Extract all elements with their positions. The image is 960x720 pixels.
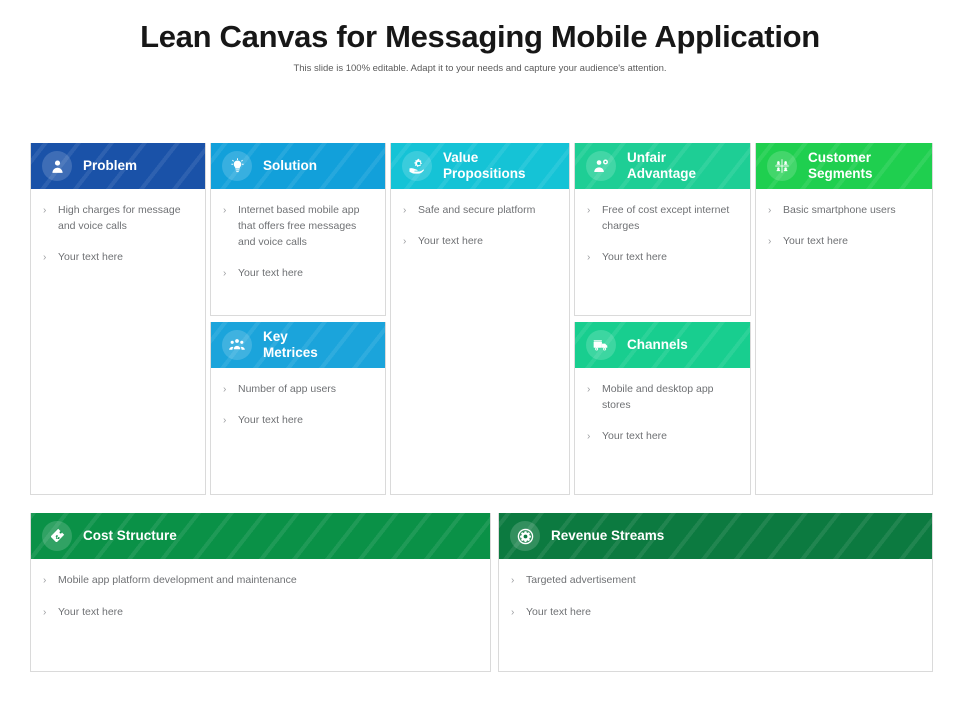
- header-unfair-advantage: Unfair Advantage: [575, 143, 750, 189]
- list-item: › Mobile app platform development and ma…: [43, 573, 480, 589]
- header-revenue-streams: Revenue Streams: [499, 513, 932, 559]
- column-solution: Solution › Internet based mobile app tha…: [210, 143, 386, 495]
- bullets-cost-structure: › Mobile app platform development and ma…: [31, 559, 490, 671]
- list-item-text: Your text here: [58, 250, 195, 266]
- card-channels[interactable]: Channels › Mobile and desktop app stores…: [574, 322, 751, 495]
- list-item: › Your text here: [43, 250, 195, 266]
- chevron-right-icon: ›: [223, 266, 238, 282]
- list-item: › Your text here: [43, 605, 480, 621]
- chevron-right-icon: ›: [223, 203, 238, 219]
- card-solution[interactable]: Solution › Internet based mobile app tha…: [210, 143, 386, 316]
- chevron-right-icon: ›: [223, 413, 238, 429]
- segmentation-grid-icon: [767, 151, 797, 181]
- header-label-channels: Channels: [627, 337, 688, 353]
- list-item-text: Your text here: [238, 266, 375, 282]
- list-item-text: Your text here: [602, 250, 740, 266]
- bullets-problem: › High charges for message and voice cal…: [31, 189, 205, 494]
- chevron-right-icon: ›: [43, 250, 58, 266]
- bullets-solution: › Internet based mobile app that offers …: [211, 189, 385, 315]
- list-item: › Your text here: [768, 234, 922, 250]
- chevron-right-icon: ›: [43, 605, 58, 621]
- slide-header: Lean Canvas for Messaging Mobile Applica…: [0, 0, 960, 74]
- list-item: › Your text here: [223, 413, 375, 429]
- chevron-right-icon: ›: [587, 429, 602, 445]
- bullets-channels: › Mobile and desktop app stores › Your t…: [575, 368, 750, 494]
- card-customer-segments[interactable]: Customer Segments › Basic smartphone use…: [755, 143, 933, 495]
- header-label-problem: Problem: [83, 158, 137, 174]
- column-unfair-advantage: Unfair Advantage › Free of cost except i…: [574, 143, 751, 495]
- list-item: › Internet based mobile app that offers …: [223, 203, 375, 251]
- list-item-text: Internet based mobile app that offers fr…: [238, 203, 375, 251]
- chevron-right-icon: ›: [587, 382, 602, 398]
- chevron-right-icon: ›: [403, 203, 418, 219]
- list-item-text: Free of cost except internet charges: [602, 203, 740, 235]
- list-item-text: Your text here: [526, 605, 922, 621]
- list-item: › Your text here: [587, 429, 740, 445]
- lean-canvas-grid: Problem › High charges for message and v…: [30, 143, 933, 495]
- chevron-right-icon: ›: [587, 203, 602, 219]
- list-item-text: Your text here: [783, 234, 922, 250]
- person-settings-icon: [586, 151, 616, 181]
- bottom-row: Cost Structure › Mobile app platform dev…: [30, 513, 933, 672]
- price-tag-dollar-icon: [42, 521, 72, 551]
- header-label-customer-segments: Customer Segments: [808, 150, 873, 182]
- list-item: › High charges for message and voice cal…: [43, 203, 195, 235]
- list-item: › Basic smartphone users: [768, 203, 922, 219]
- chevron-right-icon: ›: [768, 234, 783, 250]
- header-cost-structure: Cost Structure: [31, 513, 490, 559]
- header-problem: Problem: [31, 143, 205, 189]
- list-item: › Free of cost except internet charges: [587, 203, 740, 235]
- card-cost-structure[interactable]: Cost Structure › Mobile app platform dev…: [30, 513, 491, 672]
- card-problem[interactable]: Problem › High charges for message and v…: [30, 143, 206, 495]
- list-item-text: Your text here: [58, 605, 480, 621]
- header-label-solution: Solution: [263, 158, 317, 174]
- header-channels: Channels: [575, 322, 750, 368]
- person-icon: [42, 151, 72, 181]
- column-value-propositions: Value Propositions › Safe and secure pla…: [390, 143, 570, 495]
- page-title: Lean Canvas for Messaging Mobile Applica…: [0, 20, 960, 54]
- page-subtitle: This slide is 100% editable. Adapt it to…: [0, 63, 960, 74]
- column-customer-segments: Customer Segments › Basic smartphone use…: [755, 143, 933, 495]
- header-key-metrices: Key Metrices: [211, 322, 385, 368]
- bullets-unfair-advantage: › Free of cost except internet charges ›…: [575, 189, 750, 315]
- delivery-truck-icon: [586, 330, 616, 360]
- lightbulb-icon: [222, 151, 252, 181]
- header-value-propositions: Value Propositions: [391, 143, 569, 189]
- list-item-text: Basic smartphone users: [783, 203, 922, 219]
- list-item-text: High charges for message and voice calls: [58, 203, 195, 235]
- list-item-text: Your text here: [602, 429, 740, 445]
- list-item-text: Your text here: [238, 413, 375, 429]
- chevron-right-icon: ›: [403, 234, 418, 250]
- bullets-customer-segments: › Basic smartphone users › Your text her…: [756, 189, 932, 494]
- column-problem: Problem › High charges for message and v…: [30, 143, 206, 495]
- bullets-revenue-streams: › Targeted advertisement › Your text her…: [499, 559, 932, 671]
- list-item: › Your text here: [403, 234, 559, 250]
- list-item: › Your text here: [511, 605, 922, 621]
- people-group-icon: [222, 330, 252, 360]
- slide-canvas: Lean Canvas for Messaging Mobile Applica…: [0, 0, 960, 720]
- bullets-key-metrices: › Number of app users › Your text here: [211, 368, 385, 494]
- header-label-cost-structure: Cost Structure: [83, 528, 177, 544]
- header-solution: Solution: [211, 143, 385, 189]
- hand-gear-icon: [402, 151, 432, 181]
- header-customer-segments: Customer Segments: [756, 143, 932, 189]
- list-item-text: Your text here: [418, 234, 559, 250]
- header-label-value-propositions: Value Propositions: [443, 150, 526, 182]
- list-item-text: Safe and secure platform: [418, 203, 559, 219]
- card-value-propositions[interactable]: Value Propositions › Safe and secure pla…: [390, 143, 570, 495]
- header-label-revenue-streams: Revenue Streams: [551, 528, 664, 544]
- bullets-value-propositions: › Safe and secure platform › Your text h…: [391, 189, 569, 494]
- list-item-text: Mobile app platform development and main…: [58, 573, 480, 589]
- list-item: › Number of app users: [223, 382, 375, 398]
- chevron-right-icon: ›: [43, 573, 58, 589]
- list-item: › Targeted advertisement: [511, 573, 922, 589]
- card-unfair-advantage[interactable]: Unfair Advantage › Free of cost except i…: [574, 143, 751, 316]
- chevron-right-icon: ›: [587, 250, 602, 266]
- header-label-key-metrices: Key Metrices: [263, 329, 318, 361]
- card-revenue-streams[interactable]: Revenue Streams › Targeted advertisement…: [498, 513, 933, 672]
- gear-target-icon: [510, 521, 540, 551]
- list-item: › Your text here: [223, 266, 375, 282]
- header-label-unfair-advantage: Unfair Advantage: [627, 150, 696, 182]
- chevron-right-icon: ›: [223, 382, 238, 398]
- list-item-text: Mobile and desktop app stores: [602, 382, 740, 414]
- chevron-right-icon: ›: [768, 203, 783, 219]
- list-item-text: Number of app users: [238, 382, 375, 398]
- list-item-text: Targeted advertisement: [526, 573, 922, 589]
- list-item: › Safe and secure platform: [403, 203, 559, 219]
- chevron-right-icon: ›: [511, 605, 526, 621]
- chevron-right-icon: ›: [43, 203, 58, 219]
- list-item: › Your text here: [587, 250, 740, 266]
- card-key-metrices[interactable]: Key Metrices › Number of app users › You…: [210, 322, 386, 495]
- list-item: › Mobile and desktop app stores: [587, 382, 740, 414]
- chevron-right-icon: ›: [511, 573, 526, 589]
